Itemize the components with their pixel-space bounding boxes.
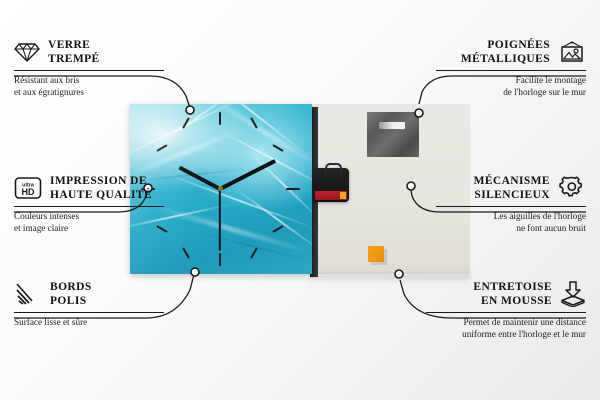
clock-tick bbox=[219, 253, 221, 266]
callout-rule bbox=[14, 312, 164, 313]
clock-tick bbox=[272, 225, 283, 233]
callout-desc-line1: Permet de maintenir une distance bbox=[426, 317, 586, 329]
callout-rule bbox=[14, 206, 164, 207]
product-scene bbox=[130, 104, 470, 274]
clock-tick bbox=[182, 247, 190, 258]
callout-desc-line2: de l'horloge sur le mur bbox=[436, 87, 586, 99]
callout-desc-line1: Résistant aux bris bbox=[14, 75, 164, 87]
callout-desc-line2: et image claire bbox=[14, 223, 164, 235]
callout-title: IMPRESSION DE HAUTE QUALITÉ bbox=[50, 174, 152, 202]
battery-terminal bbox=[340, 192, 346, 199]
clock-tick bbox=[250, 247, 258, 258]
callout-title: ENTRETOISE EN MOUSSE bbox=[473, 280, 552, 308]
callout-header: ENTRETOISE EN MOUSSE bbox=[426, 280, 586, 308]
callout-entretoise-en-mousse: ENTRETOISE EN MOUSSE Permet de maintenir… bbox=[426, 280, 586, 340]
callout-title: VERRE TREMPÉ bbox=[48, 38, 100, 66]
callout-desc-line1: Les aiguilles de l'horloge bbox=[436, 211, 586, 223]
callout-header: VERRE TREMPÉ bbox=[14, 38, 164, 66]
callout-title: BORDS POLIS bbox=[50, 280, 92, 308]
clock-tick bbox=[286, 188, 300, 190]
polished-edges-icon bbox=[14, 282, 42, 306]
infographic-canvas: VERRE TREMPÉ Résistant aux bris et aux é… bbox=[0, 0, 600, 400]
clock-second-hand bbox=[219, 189, 221, 251]
clock-tick bbox=[219, 112, 221, 125]
callout-title: POIGNÉES MÉTALLIQUES bbox=[461, 38, 550, 66]
gear-icon bbox=[558, 175, 586, 201]
callout-desc-line1: Facilite le montage bbox=[436, 75, 586, 87]
hanger-plate bbox=[367, 112, 419, 157]
hanger-slot bbox=[379, 122, 405, 129]
ultra-hd-icon: ultra HD bbox=[14, 176, 42, 200]
foam-spacer bbox=[368, 246, 384, 262]
callout-bords-polis: BORDS POLIS Surface lisse et sûre bbox=[14, 280, 164, 329]
callout-desc-line1: Couleurs intenses bbox=[14, 211, 164, 223]
callout-desc-line2: uniforme entre l'horloge et le mur bbox=[426, 329, 586, 341]
callout-poignees-metalliques: POIGNÉES MÉTALLIQUES Facilite le montage… bbox=[436, 38, 586, 98]
callout-header: BORDS POLIS bbox=[14, 280, 164, 308]
callout-desc-line1: Surface lisse et sûre bbox=[14, 317, 164, 329]
callout-rule bbox=[426, 312, 586, 313]
battery bbox=[315, 191, 347, 200]
callout-header: ultra HD IMPRESSION DE HAUTE QUALITÉ bbox=[14, 174, 164, 202]
clock-minute-hand bbox=[219, 159, 276, 191]
callout-rule bbox=[436, 70, 586, 71]
callout-title: MÉCANISME SILENCIEUX bbox=[474, 174, 550, 202]
clock-mechanism bbox=[313, 168, 349, 202]
callout-rule bbox=[14, 70, 164, 71]
diamond-icon bbox=[14, 41, 40, 63]
svg-text:HD: HD bbox=[22, 187, 35, 197]
callout-desc-line2: ne font aucun bruit bbox=[436, 223, 586, 235]
hanging-frame-icon bbox=[558, 40, 586, 64]
callout-mecanisme-silencieux: MÉCANISME SILENCIEUX Les aiguilles de l'… bbox=[436, 174, 586, 234]
callout-desc-line2: et aux égratignures bbox=[14, 87, 164, 99]
callout-verre-trempe: VERRE TREMPÉ Résistant aux bris et aux é… bbox=[14, 38, 164, 98]
mechanism-hook bbox=[325, 163, 342, 173]
spacer-pad-icon bbox=[560, 281, 586, 307]
clock-hand-pin bbox=[218, 186, 223, 191]
callout-header: MÉCANISME SILENCIEUX bbox=[436, 174, 586, 202]
callout-rule bbox=[436, 206, 586, 207]
callout-impression-haute-qualite: ultra HD IMPRESSION DE HAUTE QUALITÉ Cou… bbox=[14, 174, 164, 234]
callout-header: POIGNÉES MÉTALLIQUES bbox=[436, 38, 586, 66]
